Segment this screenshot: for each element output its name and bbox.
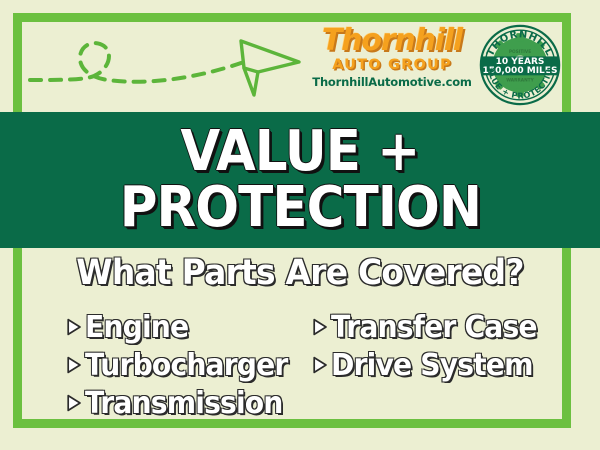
- list-item: Transmission: [66, 384, 300, 422]
- coverage-column-right: Transfer Case Drive System: [300, 308, 600, 422]
- coverage-section: What Parts Are Covered? Engine Turbochar…: [0, 248, 600, 428]
- list-item-label: Drive System: [331, 348, 533, 383]
- headline-block: VALUE + PROTECTION: [0, 112, 600, 248]
- list-item: Engine: [66, 308, 300, 346]
- warranty-seal-badge: 10 YEARS 150,000 MILES THORNHILL VALUE +…: [477, 22, 563, 108]
- coverage-column-left: Engine Turbocharger Transmission: [0, 308, 300, 422]
- headline-line-1: VALUE +: [181, 125, 420, 179]
- list-item-label: Transmission: [85, 386, 283, 421]
- triangle-bullet-icon: [66, 356, 82, 374]
- headline-line-2: PROTECTION: [119, 181, 480, 235]
- dashed-loop-arrow-doodle: [22, 18, 312, 104]
- coverage-columns: Engine Turbocharger Transmission Transfe…: [0, 308, 600, 422]
- list-item: Drive System: [312, 346, 600, 384]
- logo-subtitle: AUTO GROUP: [312, 57, 472, 73]
- promo-banner: Thornhill AUTO GROUP ThornhillAutomotive…: [0, 0, 600, 450]
- triangle-bullet-icon: [312, 318, 328, 336]
- seal-small-top: POSITIVE: [509, 49, 531, 55]
- logo-wordmark: Thornhill: [312, 26, 472, 56]
- list-item-label: Engine: [85, 310, 188, 345]
- list-item-label: Transfer Case: [331, 310, 537, 345]
- triangle-bullet-icon: [66, 318, 82, 336]
- list-item: Transfer Case: [312, 308, 600, 346]
- triangle-bullet-icon: [66, 394, 82, 412]
- seal-small-bottom: WARRANTY: [506, 77, 534, 83]
- triangle-bullet-icon: [312, 356, 328, 374]
- logo-website-url: ThornhillAutomotive.com: [312, 76, 472, 89]
- thornhill-logo: Thornhill AUTO GROUP ThornhillAutomotive…: [312, 26, 472, 89]
- list-item: Turbocharger: [66, 346, 300, 384]
- list-item-label: Turbocharger: [85, 348, 287, 383]
- banner-header: Thornhill AUTO GROUP ThornhillAutomotive…: [0, 0, 600, 112]
- coverage-question: What Parts Are Covered?: [18, 253, 582, 293]
